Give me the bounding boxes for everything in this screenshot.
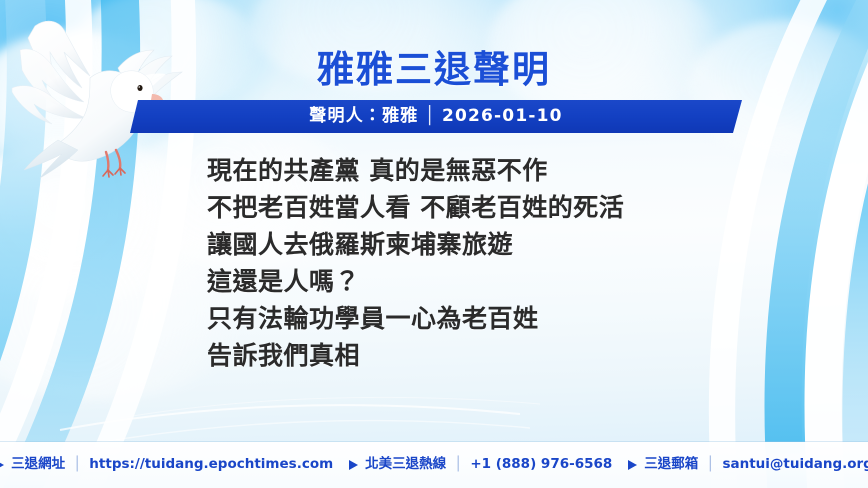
footer-item-email[interactable]: 三退郵箱 │ santui@tuidang.org — [628, 458, 868, 472]
footer-website-label: 三退網址 — [11, 458, 65, 472]
statement-line: 只有法輪功學員一心為老百姓 — [207, 300, 767, 337]
footer-email-address[interactable]: santui@tuidang.org — [722, 458, 868, 472]
declarant-ribbon: 聲明人：雅雅│2026-01-10 — [130, 100, 742, 133]
statement-line: 讓國人去俄羅斯柬埔寨旅遊 — [207, 226, 767, 263]
footer-item-hotline[interactable]: 北美三退熱線 │ +1 (888) 976-6568 — [349, 458, 612, 472]
footer-hotline-label: 北美三退熱線 — [365, 458, 446, 472]
triangle-right-icon — [0, 460, 4, 470]
statement-line: 不把老百姓當人看 不顧老百姓的死活 — [207, 189, 767, 226]
footer-separator: │ — [71, 458, 83, 472]
statement-line: 現在的共產黨 真的是無惡不作 — [207, 152, 767, 189]
contact-footer-bar: 三退網址 │ https://tuidang.epochtimes.com 北美… — [0, 442, 868, 488]
statement-body: 現在的共產黨 真的是無惡不作 不把老百姓當人看 不顧老百姓的死活 讓國人去俄羅斯… — [207, 152, 767, 374]
triangle-right-icon — [628, 460, 637, 470]
statement-line: 告訴我們真相 — [207, 337, 767, 374]
footer-website-url[interactable]: https://tuidang.epochtimes.com — [89, 458, 333, 472]
page-title: 雅雅三退聲明 — [0, 48, 868, 92]
footer-separator: │ — [452, 458, 464, 472]
triangle-right-icon — [349, 460, 358, 470]
declarant-ribbon-text: 聲明人：雅雅│2026-01-10 — [309, 108, 562, 125]
tuidang-statement-poster: 雅雅三退聲明 聲明人：雅雅│2026-01-10 現在的共產黨 真的是無惡不作 … — [0, 0, 868, 488]
footer-item-website[interactable]: 三退網址 │ https://tuidang.epochtimes.com — [0, 458, 333, 472]
statement-line: 這還是人嗎？ — [207, 263, 767, 300]
ribbon-separator: │ — [419, 108, 442, 125]
footer-separator: │ — [704, 458, 716, 472]
footer-email-label: 三退郵箱 — [644, 458, 698, 472]
statement-date: 2026-01-10 — [442, 106, 563, 126]
declarant-label: 聲明人：雅雅 — [309, 106, 418, 126]
footer-hotline-number[interactable]: +1 (888) 976-6568 — [470, 458, 612, 472]
